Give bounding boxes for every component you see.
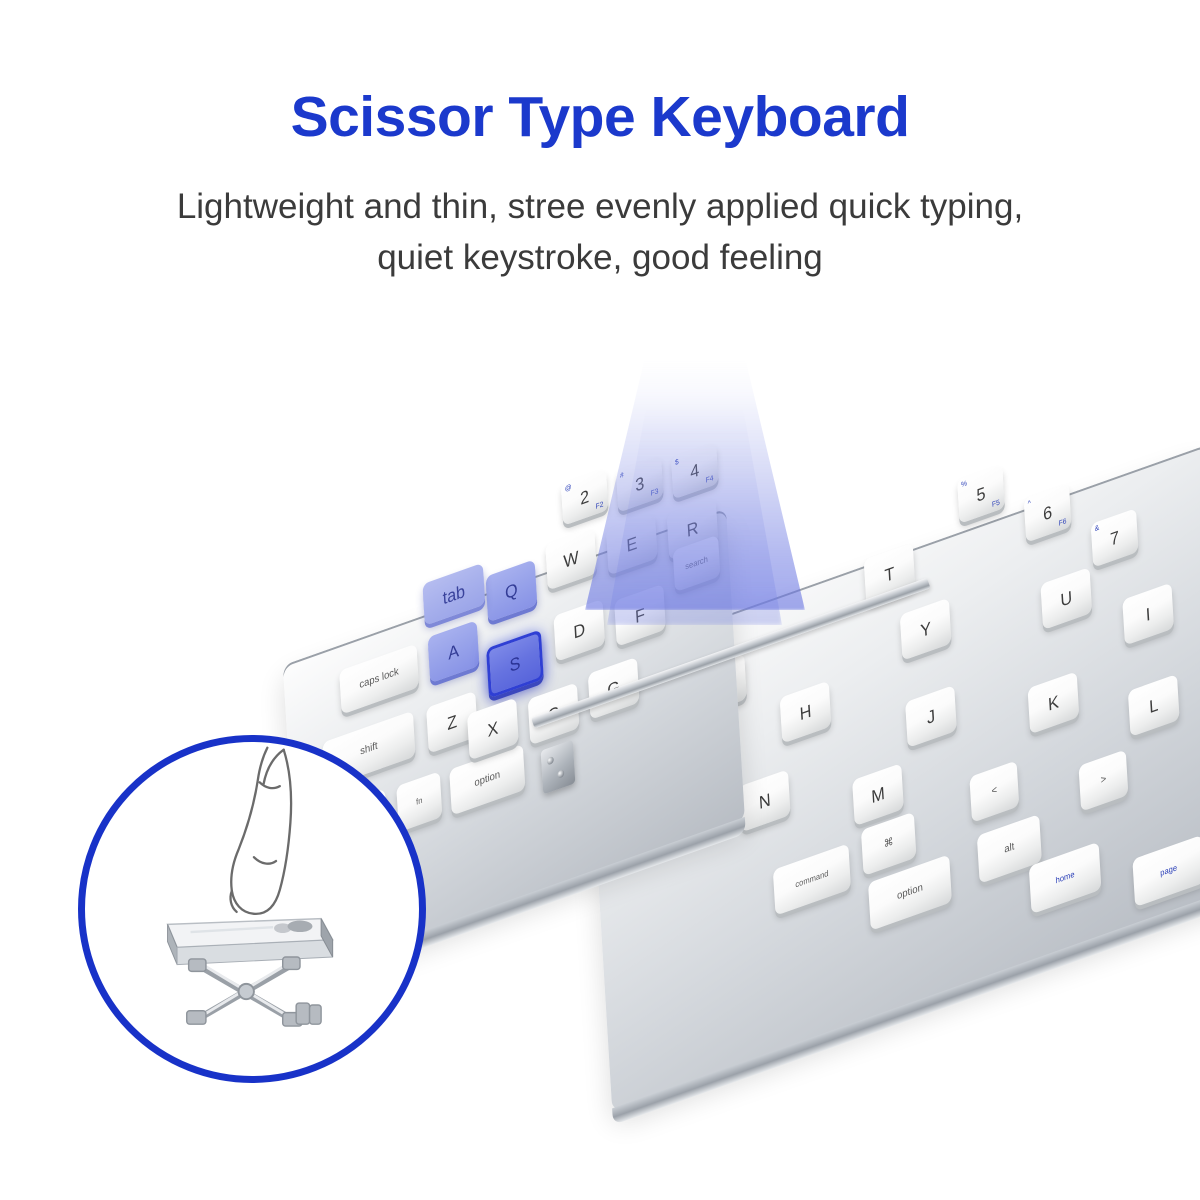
key-4-shift-label: $	[675, 458, 679, 467]
key-4-fkey-label: F4	[706, 475, 714, 485]
key-tab[interactable]: tab	[422, 563, 485, 626]
scissor-mechanism-inset	[78, 735, 426, 1083]
page-title: Scissor Type Keyboard	[0, 84, 1200, 150]
key-5[interactable]: % 5 F5	[957, 464, 1005, 524]
key-comma[interactable]: <	[969, 760, 1019, 822]
key-l[interactable]: L	[1128, 674, 1180, 737]
key-2-shift-label: @	[565, 484, 572, 494]
key-s[interactable]: S	[486, 629, 544, 698]
key-d[interactable]: D	[553, 599, 605, 662]
key-6[interactable]: ^ 6 F6	[1024, 483, 1072, 543]
key-6-shift-label: ^	[1028, 500, 1032, 508]
key-command-glyph[interactable]: ⌘	[861, 812, 917, 876]
key-command[interactable]: command	[773, 843, 851, 915]
key-n[interactable]: N	[739, 769, 791, 832]
subtitle-line-2: quiet keystroke, good feeling	[0, 233, 1200, 284]
key-y[interactable]: Y	[900, 598, 952, 661]
key-6-fkey-label: F6	[1058, 518, 1066, 528]
key-page[interactable]: page	[1132, 835, 1200, 907]
scissor-mechanism-illustration	[85, 742, 419, 1076]
key-j[interactable]: J	[905, 685, 957, 748]
key-4[interactable]: $ 4 F4	[671, 442, 719, 500]
key-option-left[interactable]: option	[449, 744, 525, 816]
key-period[interactable]: >	[1078, 749, 1128, 811]
key-7-shift-label: &	[1095, 524, 1100, 533]
key-k[interactable]: K	[1028, 671, 1080, 734]
key-7[interactable]: & 7	[1091, 508, 1139, 568]
key-caps-lock[interactable]: caps lock	[339, 644, 419, 715]
key-i[interactable]: I	[1122, 583, 1174, 646]
key-5-fkey-label: F5	[992, 499, 1000, 509]
key-5-shift-label: %	[961, 480, 967, 489]
key-2[interactable]: @ 2 F2	[561, 468, 609, 526]
hinge-screw-icon	[547, 756, 554, 766]
key-e[interactable]: E	[606, 512, 658, 575]
key-q[interactable]: Q	[486, 559, 538, 622]
hinge-screw-icon	[557, 769, 564, 779]
page-subtitle: Lightweight and thin, stree evenly appli…	[0, 182, 1200, 284]
key-w[interactable]: W	[545, 528, 597, 591]
product-marketing-image: Scissor Type Keyboard Lightweight and th…	[0, 0, 1200, 1200]
key-3-fkey-label: F3	[651, 488, 659, 498]
key-u[interactable]: U	[1040, 567, 1092, 630]
finger-icon	[231, 748, 292, 914]
key-f[interactable]: F	[614, 584, 666, 647]
key-h[interactable]: H	[780, 681, 832, 744]
key-3[interactable]: # 3 F3	[616, 455, 664, 513]
key-a[interactable]: A	[428, 620, 480, 683]
key-2-fkey-label: F2	[595, 501, 603, 511]
key-3-shift-label: #	[620, 472, 624, 481]
scissor-pivot-icon	[239, 984, 254, 999]
subtitle-line-1: Lightweight and thin, stree evenly appli…	[177, 187, 1023, 226]
keycap-cross-section	[168, 919, 333, 965]
